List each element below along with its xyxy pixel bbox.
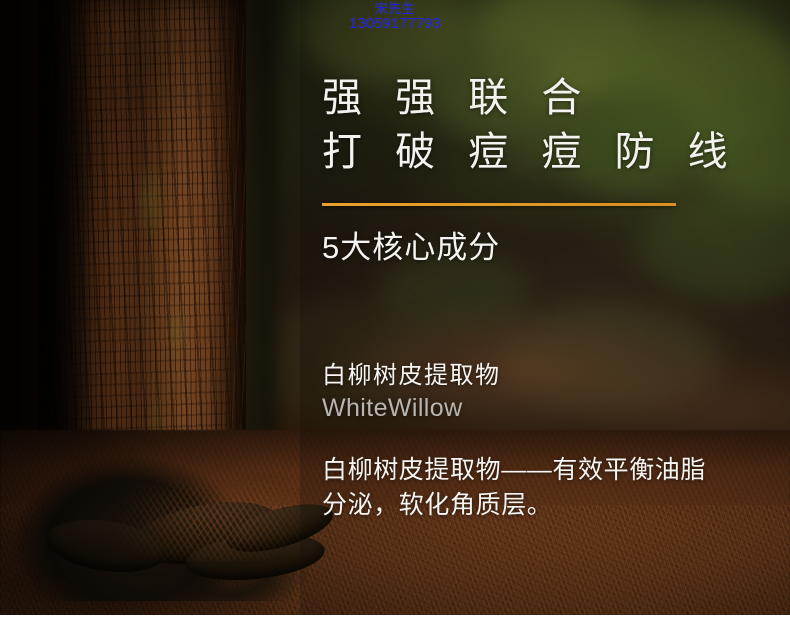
text-content-column: 强 强 联 合 打 破 痘 痘 防 线 5大核心成分 白柳树皮提取物 White… (322, 0, 790, 619)
bottom-white-strip (0, 615, 790, 619)
orange-divider-rule (322, 203, 676, 206)
ingredient-name-chinese: 白柳树皮提取物 (322, 355, 790, 390)
headline-line-1: 强 强 联 合 (322, 76, 592, 120)
headline-line-2: 打 破 痘 痘 防 线 (322, 126, 790, 180)
subheading: 5大核心成分 (322, 222, 790, 267)
headline: 强 强 联 合 打 破 痘 痘 防 线 (322, 72, 790, 179)
ingredient-description: 白柳树皮提取物——有效平衡油脂分泌，软化角质层。 (322, 453, 720, 522)
ingredient-block: 白柳树皮提取物 WhiteWillow (322, 355, 790, 423)
ingredient-name-english: WhiteWillow (322, 394, 790, 423)
product-ingredient-banner: 宋先生 13059177793 强 强 联 合 打 破 痘 痘 防 线 5大核心… (0, 0, 790, 619)
